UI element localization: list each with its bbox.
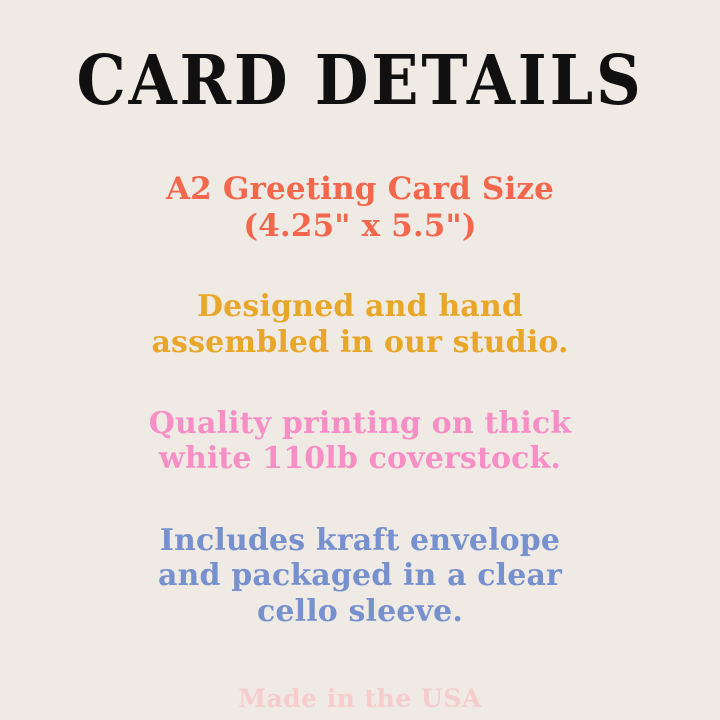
detail-block-printing: Quality printing on thick white 110lb co… bbox=[80, 406, 640, 477]
detail-line: cello sleeve. bbox=[80, 594, 640, 629]
detail-line: A2 Greeting Card Size bbox=[80, 171, 640, 208]
detail-line: and packaged in a clear bbox=[80, 558, 640, 593]
card-details-graphic: CARD DETAILS A2 Greeting Card Size (4.25… bbox=[0, 0, 720, 720]
detail-block-card-size: A2 Greeting Card Size (4.25" x 5.5") bbox=[80, 171, 640, 244]
detail-line: (4.25" x 5.5") bbox=[80, 208, 640, 245]
detail-block-made-in-usa: Made in the USA bbox=[80, 684, 640, 714]
detail-line: assembled in our studio. bbox=[80, 325, 640, 360]
detail-line: Made in the USA bbox=[80, 684, 640, 714]
detail-line: white 110lb coverstock. bbox=[80, 441, 640, 476]
detail-block-envelope: Includes kraft envelope and packaged in … bbox=[80, 523, 640, 629]
detail-line: Designed and hand bbox=[80, 289, 640, 324]
detail-block-studio: Designed and hand assembled in our studi… bbox=[80, 289, 640, 360]
detail-line: Quality printing on thick bbox=[80, 406, 640, 441]
detail-line: Includes kraft envelope bbox=[80, 523, 640, 558]
page-title: CARD DETAILS bbox=[76, 47, 643, 115]
